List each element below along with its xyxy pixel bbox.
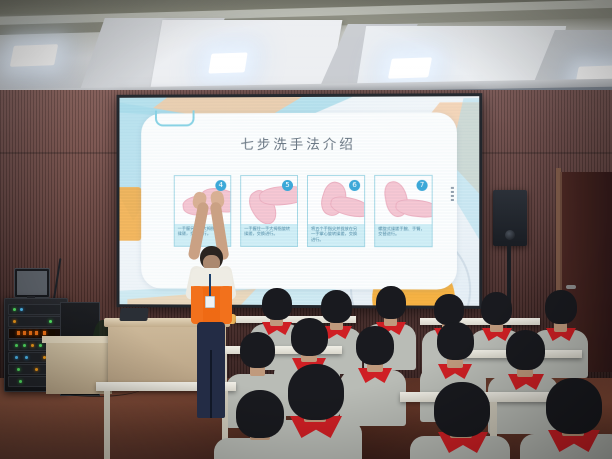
speaker-cone-icon — [505, 230, 515, 240]
side-table-top — [42, 336, 116, 343]
classroom-scene: 七步洗手法介绍 4 一手握另一手大拇指旋转揉搓，交换进行。 5 — [0, 0, 612, 459]
presenter-id-badge — [205, 296, 215, 308]
student-uniform — [214, 438, 300, 459]
panel-number-badge: 5 — [282, 180, 293, 191]
screen-scanline-texture — [120, 96, 480, 306]
control-monitor — [14, 268, 50, 298]
rack-unit — [8, 316, 66, 327]
desk-leg — [104, 391, 110, 459]
ceiling-light-3 — [388, 57, 432, 78]
ceiling-light-2 — [208, 52, 247, 73]
panel-number-badge: 7 — [417, 180, 428, 191]
presenter-leg-split — [210, 350, 212, 418]
presenter-vest-left — [191, 286, 203, 324]
door-handle-icon[interactable] — [566, 285, 576, 289]
ceiling-light-1 — [10, 44, 58, 67]
student-head — [356, 326, 394, 365]
student-head — [546, 378, 602, 434]
pa-speaker — [493, 190, 527, 246]
student-head — [434, 382, 490, 437]
presenter — [176, 200, 246, 440]
panel-number-badge: 4 — [215, 180, 226, 191]
projection-screen-frame: 七步洗手法介绍 4 一手握另一手大拇指旋转揉搓，交换进行。 5 — [117, 93, 483, 309]
panel-number-badge: 6 — [349, 180, 360, 191]
student-head — [376, 286, 406, 319]
presenter-laptop — [119, 308, 148, 321]
presenter-lanyard — [209, 274, 211, 298]
presenter-vest-right — [220, 286, 232, 324]
student-head — [506, 330, 545, 370]
projection-screen: 七步洗手法介绍 4 一手握另一手大拇指旋转揉搓，交换进行。 5 — [120, 96, 480, 306]
student-head — [437, 322, 474, 360]
student-head — [434, 294, 464, 325]
student-head — [481, 292, 512, 325]
monitor-screen — [17, 271, 47, 295]
student-head — [288, 364, 344, 420]
ceiling — [0, 0, 612, 96]
rack-unit — [8, 304, 66, 315]
student-head — [545, 290, 577, 324]
student-head — [262, 288, 292, 320]
student-head — [321, 290, 352, 323]
student-head — [291, 318, 328, 356]
